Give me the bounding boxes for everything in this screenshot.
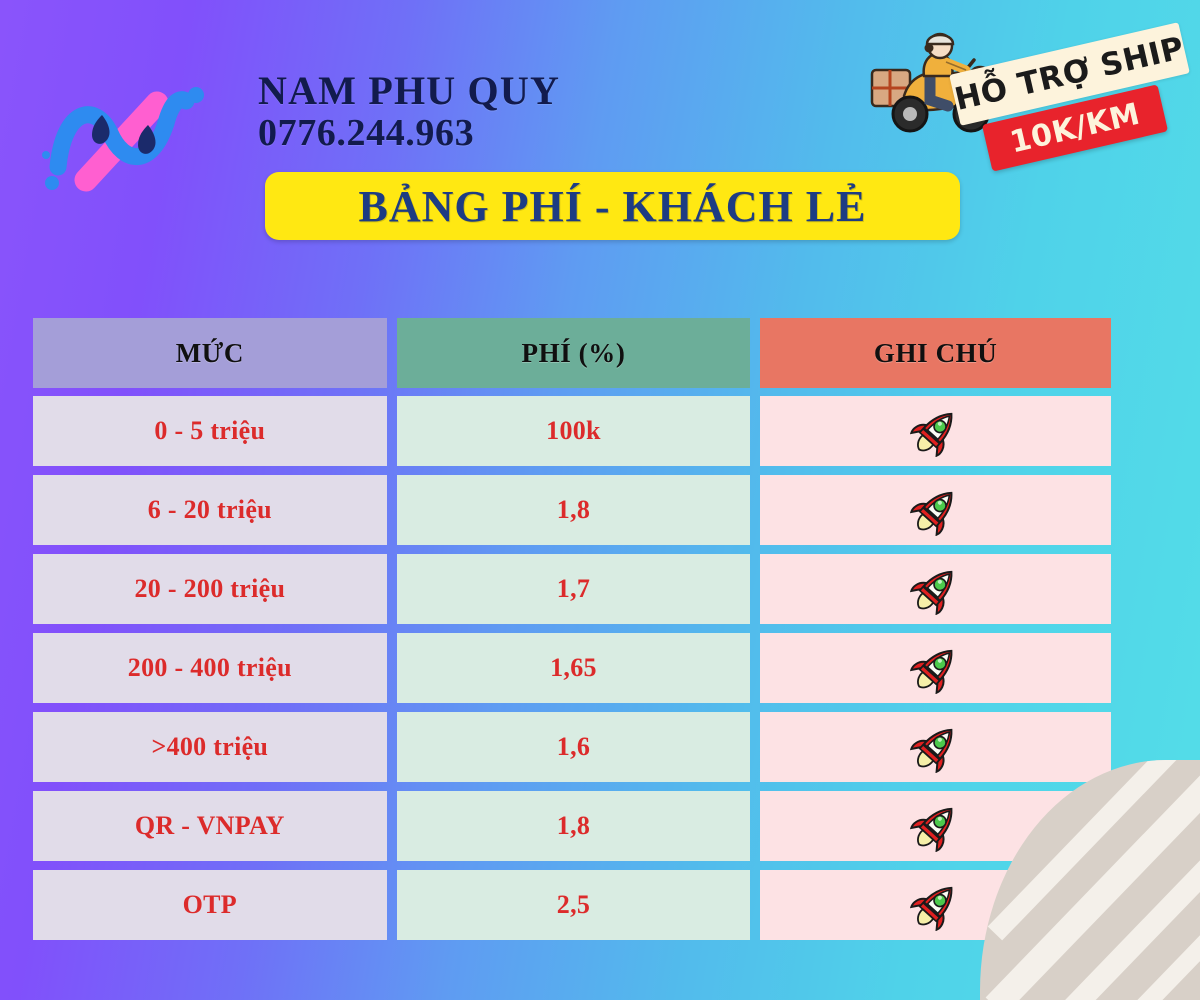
cell-muc: 20 - 200 triệu [33, 554, 387, 624]
rocket-icon [910, 879, 962, 931]
ship-support-badge: HỖ TRỢ SHIP 10K/KM [852, 12, 1182, 187]
table-row: 20 - 200 triệu 1,7 [33, 554, 1111, 624]
rocket-icon [910, 642, 962, 694]
brand-name: NAM PHU QUY [258, 70, 718, 112]
rocket-icon [910, 721, 962, 773]
brand-text-block: NAM PHU QUY 0776.244.963 [258, 70, 718, 153]
cell-phi: 1,6 [397, 712, 751, 782]
cell-phi: 2,5 [397, 870, 751, 940]
cell-ghi-chu [760, 712, 1111, 782]
cell-muc: QR - VNPAY [33, 791, 387, 861]
cell-muc: >400 triệu [33, 712, 387, 782]
rocket-icon [910, 405, 962, 457]
cell-muc: OTP [33, 870, 387, 940]
cell-phi: 1,8 [397, 475, 751, 545]
cell-ghi-chu [760, 396, 1111, 466]
cell-phi: 100k [397, 396, 751, 466]
cell-ghi-chu [760, 791, 1111, 861]
cell-phi: 1,7 [397, 554, 751, 624]
fee-table: MỨC PHÍ (%) GHI CHÚ 0 - 5 triệu 100k [33, 318, 1111, 949]
table-header-phi: PHÍ (%) [397, 318, 751, 388]
brand-phone: 0776.244.963 [258, 114, 718, 154]
rocket-icon [910, 800, 962, 852]
table-row: >400 triệu 1,6 [33, 712, 1111, 782]
cell-muc: 200 - 400 triệu [33, 633, 387, 703]
page-title: BẢNG PHÍ - KHÁCH LẺ [359, 181, 867, 232]
cell-ghi-chu [760, 475, 1111, 545]
poster-header: NAM PHU QUY 0776.244.963 BẢNG PHÍ - KHÁC… [0, 0, 1200, 300]
rocket-icon [910, 563, 962, 615]
table-header-row: MỨC PHÍ (%) GHI CHÚ [33, 318, 1111, 388]
cell-ghi-chu [760, 554, 1111, 624]
table-row: 200 - 400 triệu 1,65 [33, 633, 1111, 703]
table-row: 6 - 20 triệu 1,8 [33, 475, 1111, 545]
cell-muc: 0 - 5 triệu [33, 396, 387, 466]
table-header-muc: MỨC [33, 318, 387, 388]
table-body: 0 - 5 triệu 100k [33, 396, 1111, 940]
cell-ghi-chu [760, 633, 1111, 703]
table-row: QR - VNPAY 1,8 [33, 791, 1111, 861]
table-row: OTP 2,5 [33, 870, 1111, 940]
cell-phi: 1,65 [397, 633, 751, 703]
cell-phi: 1,8 [397, 791, 751, 861]
rocket-icon [910, 484, 962, 536]
cell-muc: 6 - 20 triệu [33, 475, 387, 545]
cell-ghi-chu [760, 870, 1111, 940]
fee-table-poster: NAM PHU QUY 0776.244.963 BẢNG PHÍ - KHÁC… [0, 0, 1200, 1000]
wave-n-logo [30, 55, 240, 195]
table-header-ghi-chu: GHI CHÚ [760, 318, 1111, 388]
table-row: 0 - 5 triệu 100k [33, 396, 1111, 466]
